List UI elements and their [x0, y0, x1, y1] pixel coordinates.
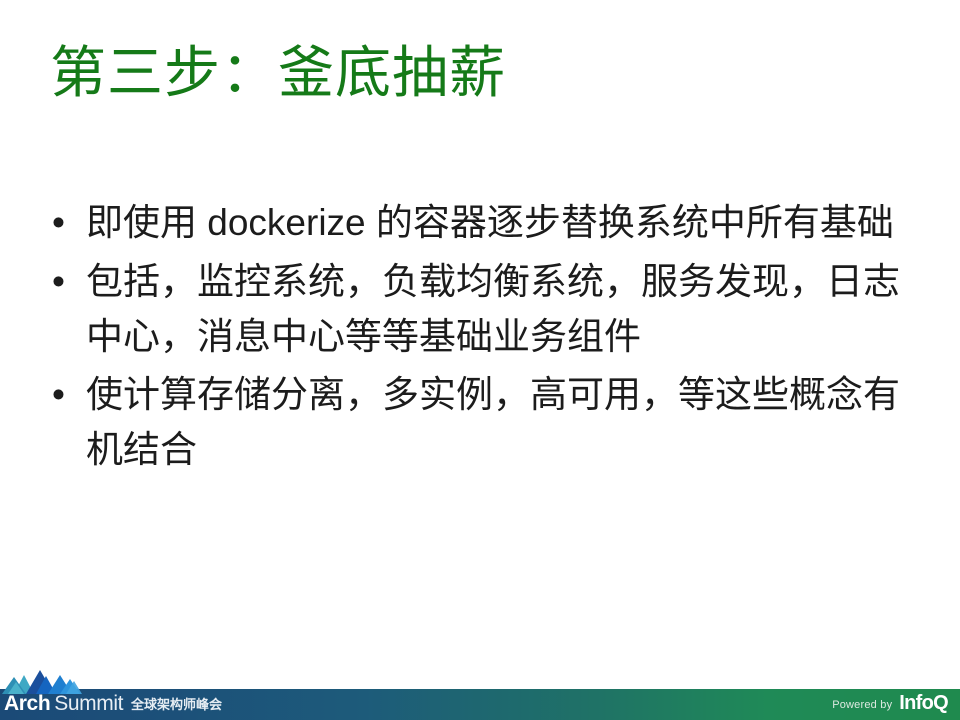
list-item: • 即使用 dockerize 的容器逐步替换系统中所有基础 — [46, 196, 926, 251]
logo-brand-primary: Arch — [4, 692, 50, 716]
list-item-text: 包括，监控系统，负载均衡系统，服务发现，日志中心，消息中心等等基础业务组件 — [86, 255, 926, 365]
bullet-point-icon: • — [52, 368, 65, 423]
bullet-point-icon: • — [52, 255, 65, 310]
powered-by-infoq: Powered by InfoQ — [832, 691, 948, 714]
archsummit-logo: Arch Summit 全球架构师峰会 — [0, 668, 230, 720]
list-item-text: 使计算存储分离，多实例，高可用，等这些概念有机结合 — [86, 368, 926, 478]
list-item-text: 即使用 dockerize 的容器逐步替换系统中所有基础 — [86, 196, 926, 251]
bullet-list: • 即使用 dockerize 的容器逐步替换系统中所有基础 • 包括，监控系统… — [46, 196, 926, 482]
slide-canvas: 第三步：釜底抽薪 • 即使用 dockerize 的容器逐步替换系统中所有基础 … — [0, 0, 960, 720]
logo-brand-secondary: Summit — [54, 692, 123, 716]
mountain-peaks-icon — [2, 668, 82, 694]
powered-by-label: Powered by — [832, 699, 892, 711]
logo-brand-chinese: 全球架构师峰会 — [131, 694, 222, 713]
list-item: • 包括，监控系统，负载均衡系统，服务发现，日志中心，消息中心等等基础业务组件 — [46, 255, 926, 365]
bullet-point-icon: • — [52, 196, 65, 251]
list-item: • 使计算存储分离，多实例，高可用，等这些概念有机结合 — [46, 368, 926, 478]
page-title: 第三步：釜底抽薪 — [50, 42, 920, 105]
logo-wordmark: Arch Summit 全球架构师峰会 — [4, 692, 222, 716]
infoq-logo: InfoQ — [899, 692, 948, 715]
